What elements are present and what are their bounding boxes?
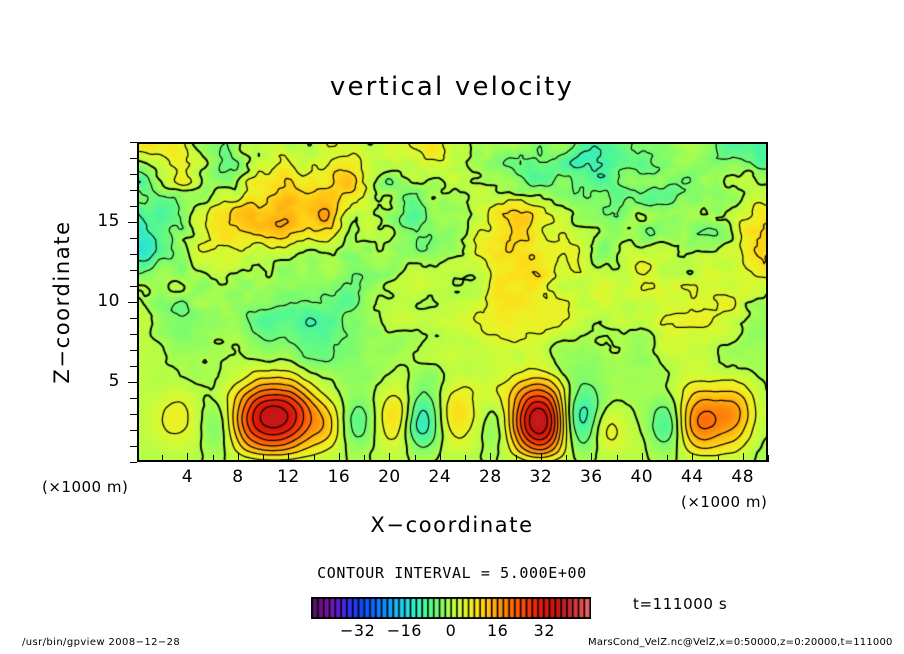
page-title: vertical velocity (0, 72, 904, 102)
x-tick-label: 8 (210, 467, 266, 487)
x-tick-label: 16 (311, 467, 367, 487)
y-tick (130, 142, 137, 143)
colorbar-tick-label: 32 (514, 621, 574, 640)
footer-source: MarsCond_VelZ.nc@VelZ,x=0:50000,z=0:2000… (588, 637, 893, 648)
x-tick-label: 40 (614, 467, 670, 487)
x-axis-unit-right: (×1000 m) (681, 493, 767, 511)
y-tick (130, 286, 137, 287)
x-tick (541, 453, 542, 462)
x-tick-label: 24 (412, 467, 468, 487)
y-tick (130, 238, 137, 239)
x-tick (591, 453, 592, 462)
y-tick (130, 334, 137, 335)
y-tick (130, 270, 137, 271)
footer-command: /usr/bin/gpview 2008−12−28 (22, 637, 180, 648)
y-tick (128, 382, 137, 383)
x-tick-label: 32 (513, 467, 569, 487)
x-tick (288, 453, 289, 462)
x-tick (440, 453, 441, 462)
contour-interval-caption: CONTOUR INTERVAL = 5.000E+00 (0, 564, 904, 582)
x-tick (642, 453, 643, 462)
x-tick (364, 455, 365, 462)
x-tick-label: 48 (715, 467, 771, 487)
y-tick (130, 430, 137, 431)
x-tick (137, 455, 138, 462)
y-tick (128, 302, 137, 303)
x-tick-label: 44 (664, 467, 720, 487)
x-tick (162, 455, 163, 462)
x-tick-label: 20 (361, 467, 417, 487)
x-tick (389, 453, 390, 462)
y-tick (128, 222, 137, 223)
x-tick (667, 455, 668, 462)
y-tick (130, 462, 137, 463)
colorbar (311, 597, 591, 619)
x-tick (692, 453, 693, 462)
x-tick (187, 453, 188, 462)
x-tick (238, 453, 239, 462)
y-tick (130, 414, 137, 415)
y-axis-title: Z−coordinate (50, 172, 74, 432)
x-tick (566, 455, 567, 462)
x-tick (415, 455, 416, 462)
vertical-velocity-field (139, 144, 768, 462)
y-tick (130, 350, 137, 351)
x-tick (516, 455, 517, 462)
x-axis-title: X−coordinate (0, 513, 904, 537)
x-tick (768, 455, 769, 462)
x-tick (490, 453, 491, 462)
x-tick (314, 455, 315, 462)
x-axis-unit-left: (×1000 m) (42, 478, 128, 496)
y-tick (130, 206, 137, 207)
time-stamp: t=111000 s (633, 595, 727, 613)
x-tick (465, 455, 466, 462)
colorbar-gradient (311, 597, 591, 619)
y-tick (130, 174, 137, 175)
y-tick (130, 254, 137, 255)
y-tick (130, 398, 137, 399)
x-tick (718, 455, 719, 462)
colorbar-tick-labels: −32−1601632 (311, 621, 591, 641)
x-tick-label: 28 (462, 467, 518, 487)
x-tick-label: 36 (563, 467, 619, 487)
x-tick-label: 12 (260, 467, 316, 487)
x-tick (617, 455, 618, 462)
contour-plot-area (137, 142, 768, 462)
x-tick-label: 4 (159, 467, 215, 487)
y-tick (130, 366, 137, 367)
y-tick (130, 318, 137, 319)
x-tick (339, 453, 340, 462)
x-tick (743, 453, 744, 462)
y-tick (130, 446, 137, 447)
x-tick (263, 455, 264, 462)
y-tick (130, 158, 137, 159)
y-tick (130, 190, 137, 191)
x-tick (213, 455, 214, 462)
